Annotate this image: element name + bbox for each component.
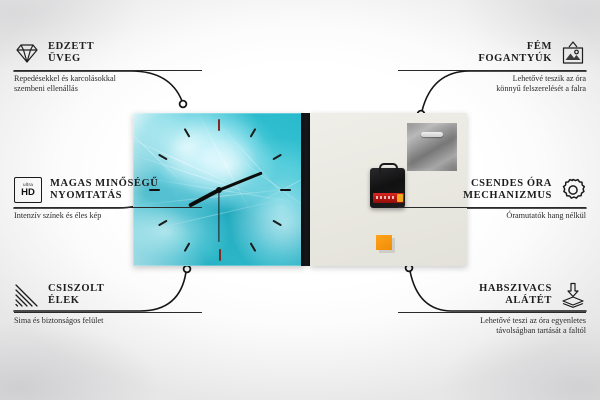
infographic-canvas: EDZETT ÜVEG Repedésekkel és karcolásokka… [0,0,600,400]
diamond-icon [14,40,40,66]
feature-desc-line1: Óramutatók hang nélkül [398,211,586,221]
feature-title-line1: CSENDES ÓRA [463,178,552,190]
feature-desc-line1: Lehetővé teszik az óra [398,74,586,84]
down-arrow-layers-icon [560,282,586,308]
feature-divider [398,70,586,71]
feature-divider [14,312,202,313]
feature-divider [14,207,202,208]
hanger-slot [421,132,443,137]
feature-divider [398,207,586,208]
feature-title-line1: MAGAS MINŐSÉGŰ [50,178,158,190]
feature-title-line1: EDZETT [48,41,94,53]
clock-second-hand [218,190,219,242]
metal-hanger-bracket [407,123,457,171]
feature-desc-line1: Repedésekkel és karcolásokkal [14,74,202,84]
feature-title-line2: MECHANIZMUS [463,190,552,202]
feature-high-quality-print: ultra HD MAGAS MINŐSÉGŰ NYOMTATÁS Intenz… [14,177,202,221]
clock-center-hub [216,187,222,193]
feature-title-line2: ALÁTÉT [479,295,552,307]
clock-minute-hand [218,171,262,191]
feature-desc-line2: távolságban tartását a faltól [398,326,586,336]
feature-tempered-glass: EDZETT ÜVEG Repedésekkel és karcolásokka… [14,40,202,94]
feature-title-line1: CSISZOLT [48,283,104,295]
foam-pad-sample [376,235,392,250]
feature-foam-pad: HABSZIVACS ALÁTÉT Lehetővé teszi az óra … [398,282,586,336]
feature-desc-line1: Lehetővé teszi az óra egyenletes [398,316,586,326]
endpoint-tempered-glass [180,101,187,108]
picture-frame-hanger-icon [560,40,586,66]
battery-label [376,196,394,199]
feature-title-line1: HABSZIVACS [479,283,552,295]
glass-edge [301,113,310,266]
feature-desc-line2: szembeni ellenállás [14,84,202,94]
feature-title-line2: ÜVEG [48,53,94,65]
feature-title-line2: ÉLEK [48,295,104,307]
feature-silent-mechanism: CSENDES ÓRA MECHANIZMUS Óramutatók hang … [398,177,586,221]
feature-desc-line2: könnyű felszerelését a falra [398,84,586,94]
mechanism-loop [379,163,398,174]
feature-title-line2: NYOMTATÁS [50,190,158,202]
feature-title-line2: FOGANTYÚK [478,53,552,65]
feature-desc-line1: Intenzív színek és éles kép [14,211,202,221]
gear-icon [560,177,586,203]
hatch-lines-icon [14,282,40,308]
feature-polished-edges: CSISZOLT ÉLEK Sima és biztonságos felüle… [14,282,202,326]
endpoint-polished-edges [184,266,191,273]
feature-title-line1: FÉM [478,41,552,53]
ultra-hd-icon: ultra HD [14,177,42,203]
feature-divider [398,312,586,313]
feature-metal-handles: FÉM FOGANTYÚK Lehetővé teszik az óra kön… [398,40,586,94]
feature-desc-line1: Sima és biztonságos felület [14,316,202,326]
feature-divider [14,70,202,71]
ultra-hd-big-text: HD [21,188,35,198]
